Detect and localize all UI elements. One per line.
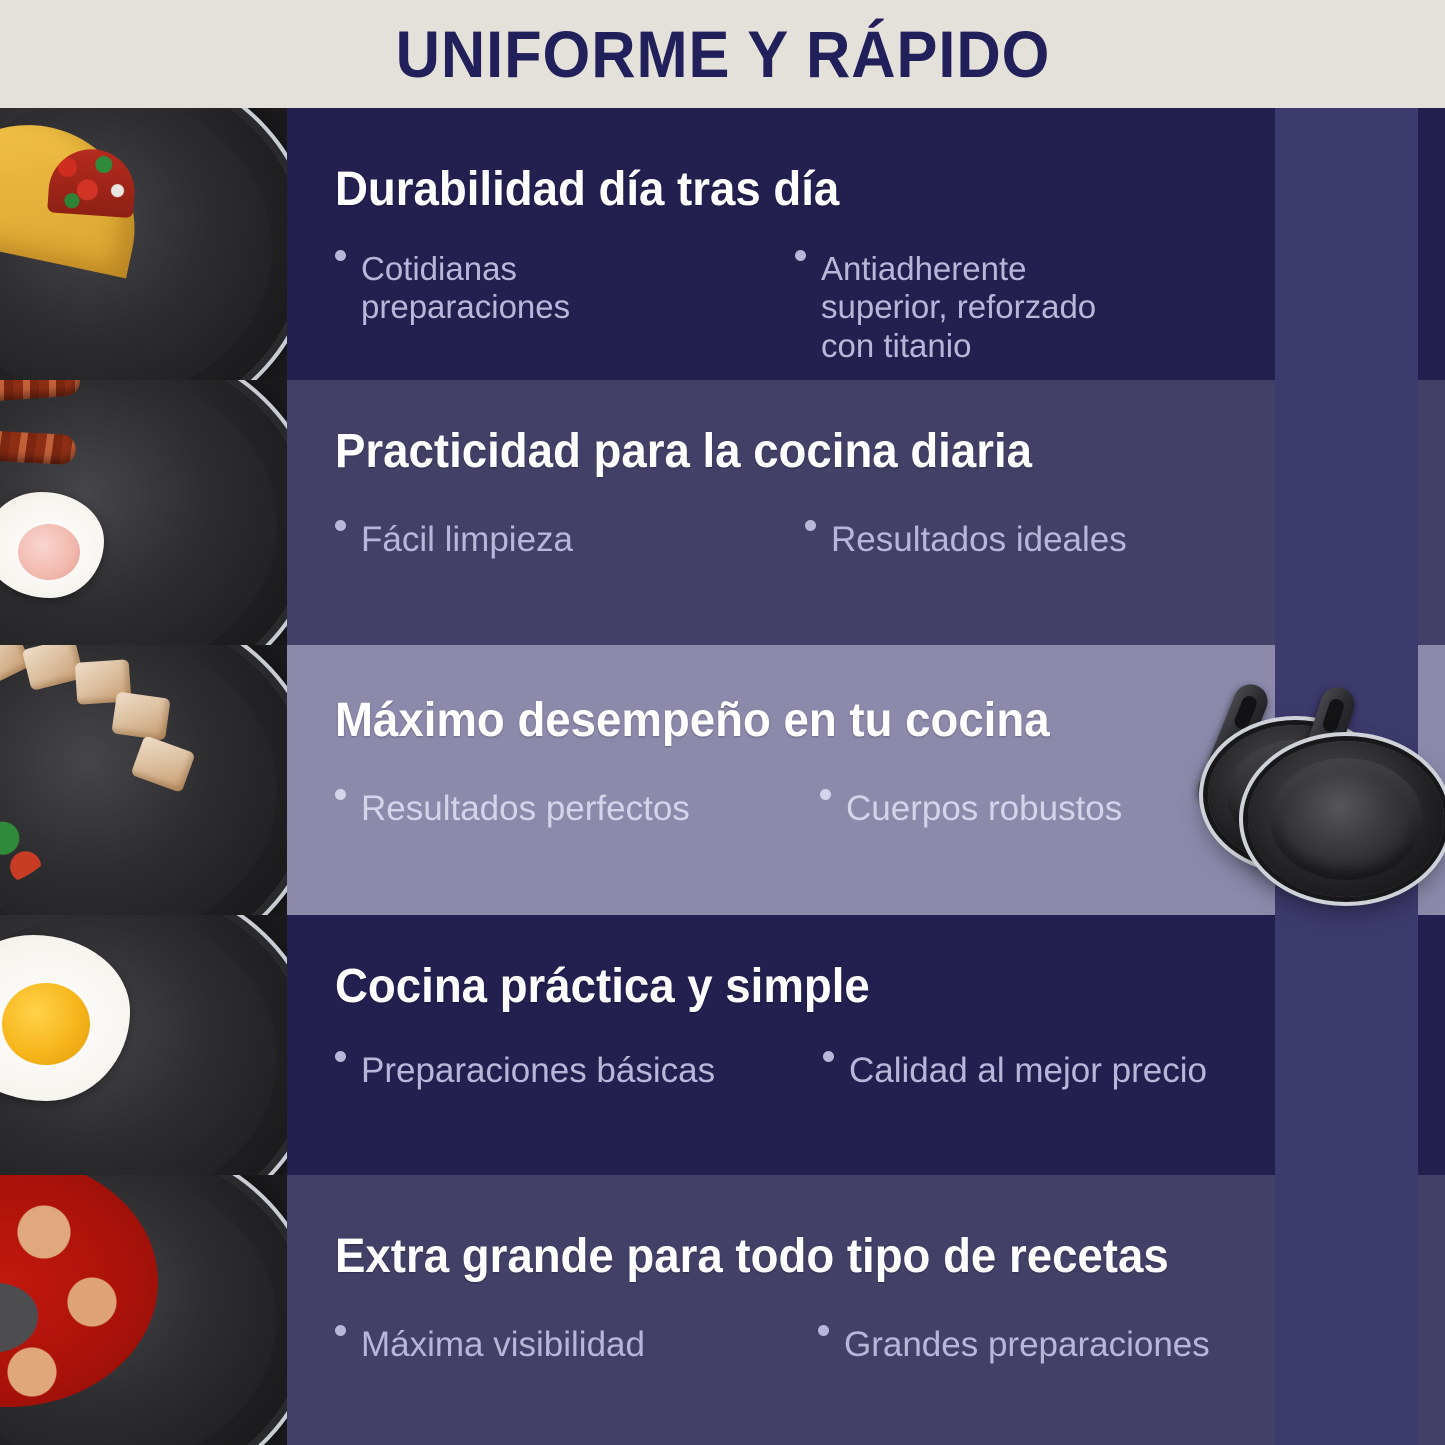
list-item: Grandes preparaciones (818, 1325, 1238, 1366)
feature-heading-1: Durabilidad día tras día (335, 166, 839, 214)
bullet-dot-icon (335, 520, 346, 531)
chicken-slice-graphic (111, 691, 170, 740)
feature-bullets-1: Cotidianas preparaciones Antiadherente s… (335, 250, 1225, 365)
bullet-text: Antiadherente superior, reforzado con ti… (821, 250, 1096, 365)
bullet-text: Cuerpos robustos (846, 789, 1122, 830)
bullet-text: Preparaciones básicas (361, 1051, 715, 1092)
feature-content-1: Durabilidad día tras día Cotidianas prep… (335, 108, 1445, 380)
bullet-dot-icon (795, 250, 806, 261)
egg-yolk (18, 524, 80, 580)
list-item: Antiadherente superior, reforzado con ti… (795, 250, 1225, 365)
list-item: Cotidianas preparaciones (335, 250, 795, 365)
feature-row-5[interactable]: Extra grande para todo tipo de recetas M… (0, 1175, 1445, 1445)
list-item: Preparaciones básicas (335, 1051, 823, 1092)
feature-bullets-2: Fácil limpieza Resultados ideales (335, 520, 1225, 561)
frying-pan-graphic (0, 1175, 287, 1445)
bullet-text: Cotidianas preparaciones (361, 250, 570, 327)
feature-content-2: Practicidad para la cocina diaria Fácil … (335, 380, 1445, 645)
bullet-text: Resultados perfectos (361, 789, 690, 830)
product-image (1208, 655, 1445, 905)
feature-heading-4: Cocina práctica y simple (335, 963, 870, 1011)
feature-heading-5: Extra grande para todo tipo de recetas (335, 1233, 1169, 1281)
bullet-dot-icon (335, 250, 346, 261)
feature-bullets-4: Preparaciones básicas Calidad al mejor p… (335, 1051, 1263, 1092)
bullet-text: Calidad al mejor precio (849, 1051, 1207, 1092)
feature-row-4[interactable]: Cocina práctica y simple Preparaciones b… (0, 915, 1445, 1175)
front-frying-pan (1248, 741, 1444, 897)
bullet-text: Resultados ideales (831, 520, 1127, 561)
bullet-dot-icon (820, 789, 831, 800)
page-title: UNIFORME Y RÁPIDO (395, 21, 1050, 87)
feature-bullets-3: Resultados perfectos Cuerpos robustos (335, 789, 1220, 830)
list-item: Máxima visibilidad (335, 1325, 818, 1366)
bullet-dot-icon (335, 1325, 346, 1336)
frying-pan-graphic (0, 915, 287, 1175)
feature-heading-2: Practicidad para la cocina diaria (335, 428, 1032, 476)
feature-image-4 (0, 915, 287, 1175)
bullet-text: Máxima visibilidad (361, 1325, 645, 1366)
list-item: Cuerpos robustos (820, 789, 1220, 830)
feature-content-5: Extra grande para todo tipo de recetas M… (335, 1175, 1445, 1445)
feature-content-4: Cocina práctica y simple Preparaciones b… (335, 915, 1445, 1175)
feature-row-1[interactable]: Durabilidad día tras día Cotidianas prep… (0, 108, 1445, 380)
list-item: Fácil limpieza (335, 520, 805, 561)
header-banner: UNIFORME Y RÁPIDO (0, 0, 1445, 108)
infographic-page: UNIFORME Y RÁPIDO Durabilidad día tras d… (0, 0, 1445, 1445)
list-item: Resultados ideales (805, 520, 1225, 561)
bullet-text: Fácil limpieza (361, 520, 573, 561)
list-item: Resultados perfectos (335, 789, 820, 830)
feature-image-2 (0, 380, 287, 645)
feature-heading-3: Máximo desempeño en tu cocina (335, 697, 1050, 745)
pan-body (1248, 741, 1444, 897)
bullet-dot-icon (335, 789, 346, 800)
feature-bullets-5: Máxima visibilidad Grandes preparaciones (335, 1325, 1238, 1366)
feature-image-3 (0, 645, 287, 915)
feature-row-2[interactable]: Practicidad para la cocina diaria Fácil … (0, 380, 1445, 645)
feature-image-5 (0, 1175, 287, 1445)
frying-pan-graphic (0, 645, 287, 915)
feature-image-1 (0, 108, 287, 380)
list-item: Calidad al mejor precio (823, 1051, 1263, 1092)
bullet-dot-icon (805, 520, 816, 531)
bullet-dot-icon (335, 1051, 346, 1062)
egg-yolk (2, 983, 90, 1065)
frying-pan-graphic (0, 108, 287, 380)
pan-cooking-surface (1270, 758, 1423, 880)
bullet-text: Grandes preparaciones (844, 1325, 1210, 1366)
bullet-dot-icon (818, 1325, 829, 1336)
frying-pan-graphic (0, 380, 287, 645)
bullet-dot-icon (823, 1051, 834, 1062)
